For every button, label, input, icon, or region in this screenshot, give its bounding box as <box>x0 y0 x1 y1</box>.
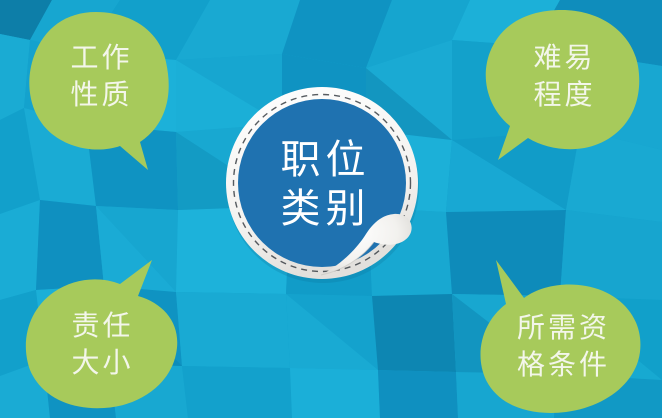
center-sticker: 职位 类别 <box>222 82 424 288</box>
bubble-required-qualifications[interactable]: 所需资 格条件 <box>472 256 644 414</box>
infographic-canvas: 职位 类别 工作 性质 难易 程度 责任 大小 <box>0 0 662 418</box>
bubble-difficulty-level[interactable]: 难易 程度 <box>478 8 642 170</box>
bubble-work-nature[interactable]: 工作 性质 <box>24 10 176 170</box>
bubble-responsibility-size[interactable]: 责任 大小 <box>18 258 184 410</box>
